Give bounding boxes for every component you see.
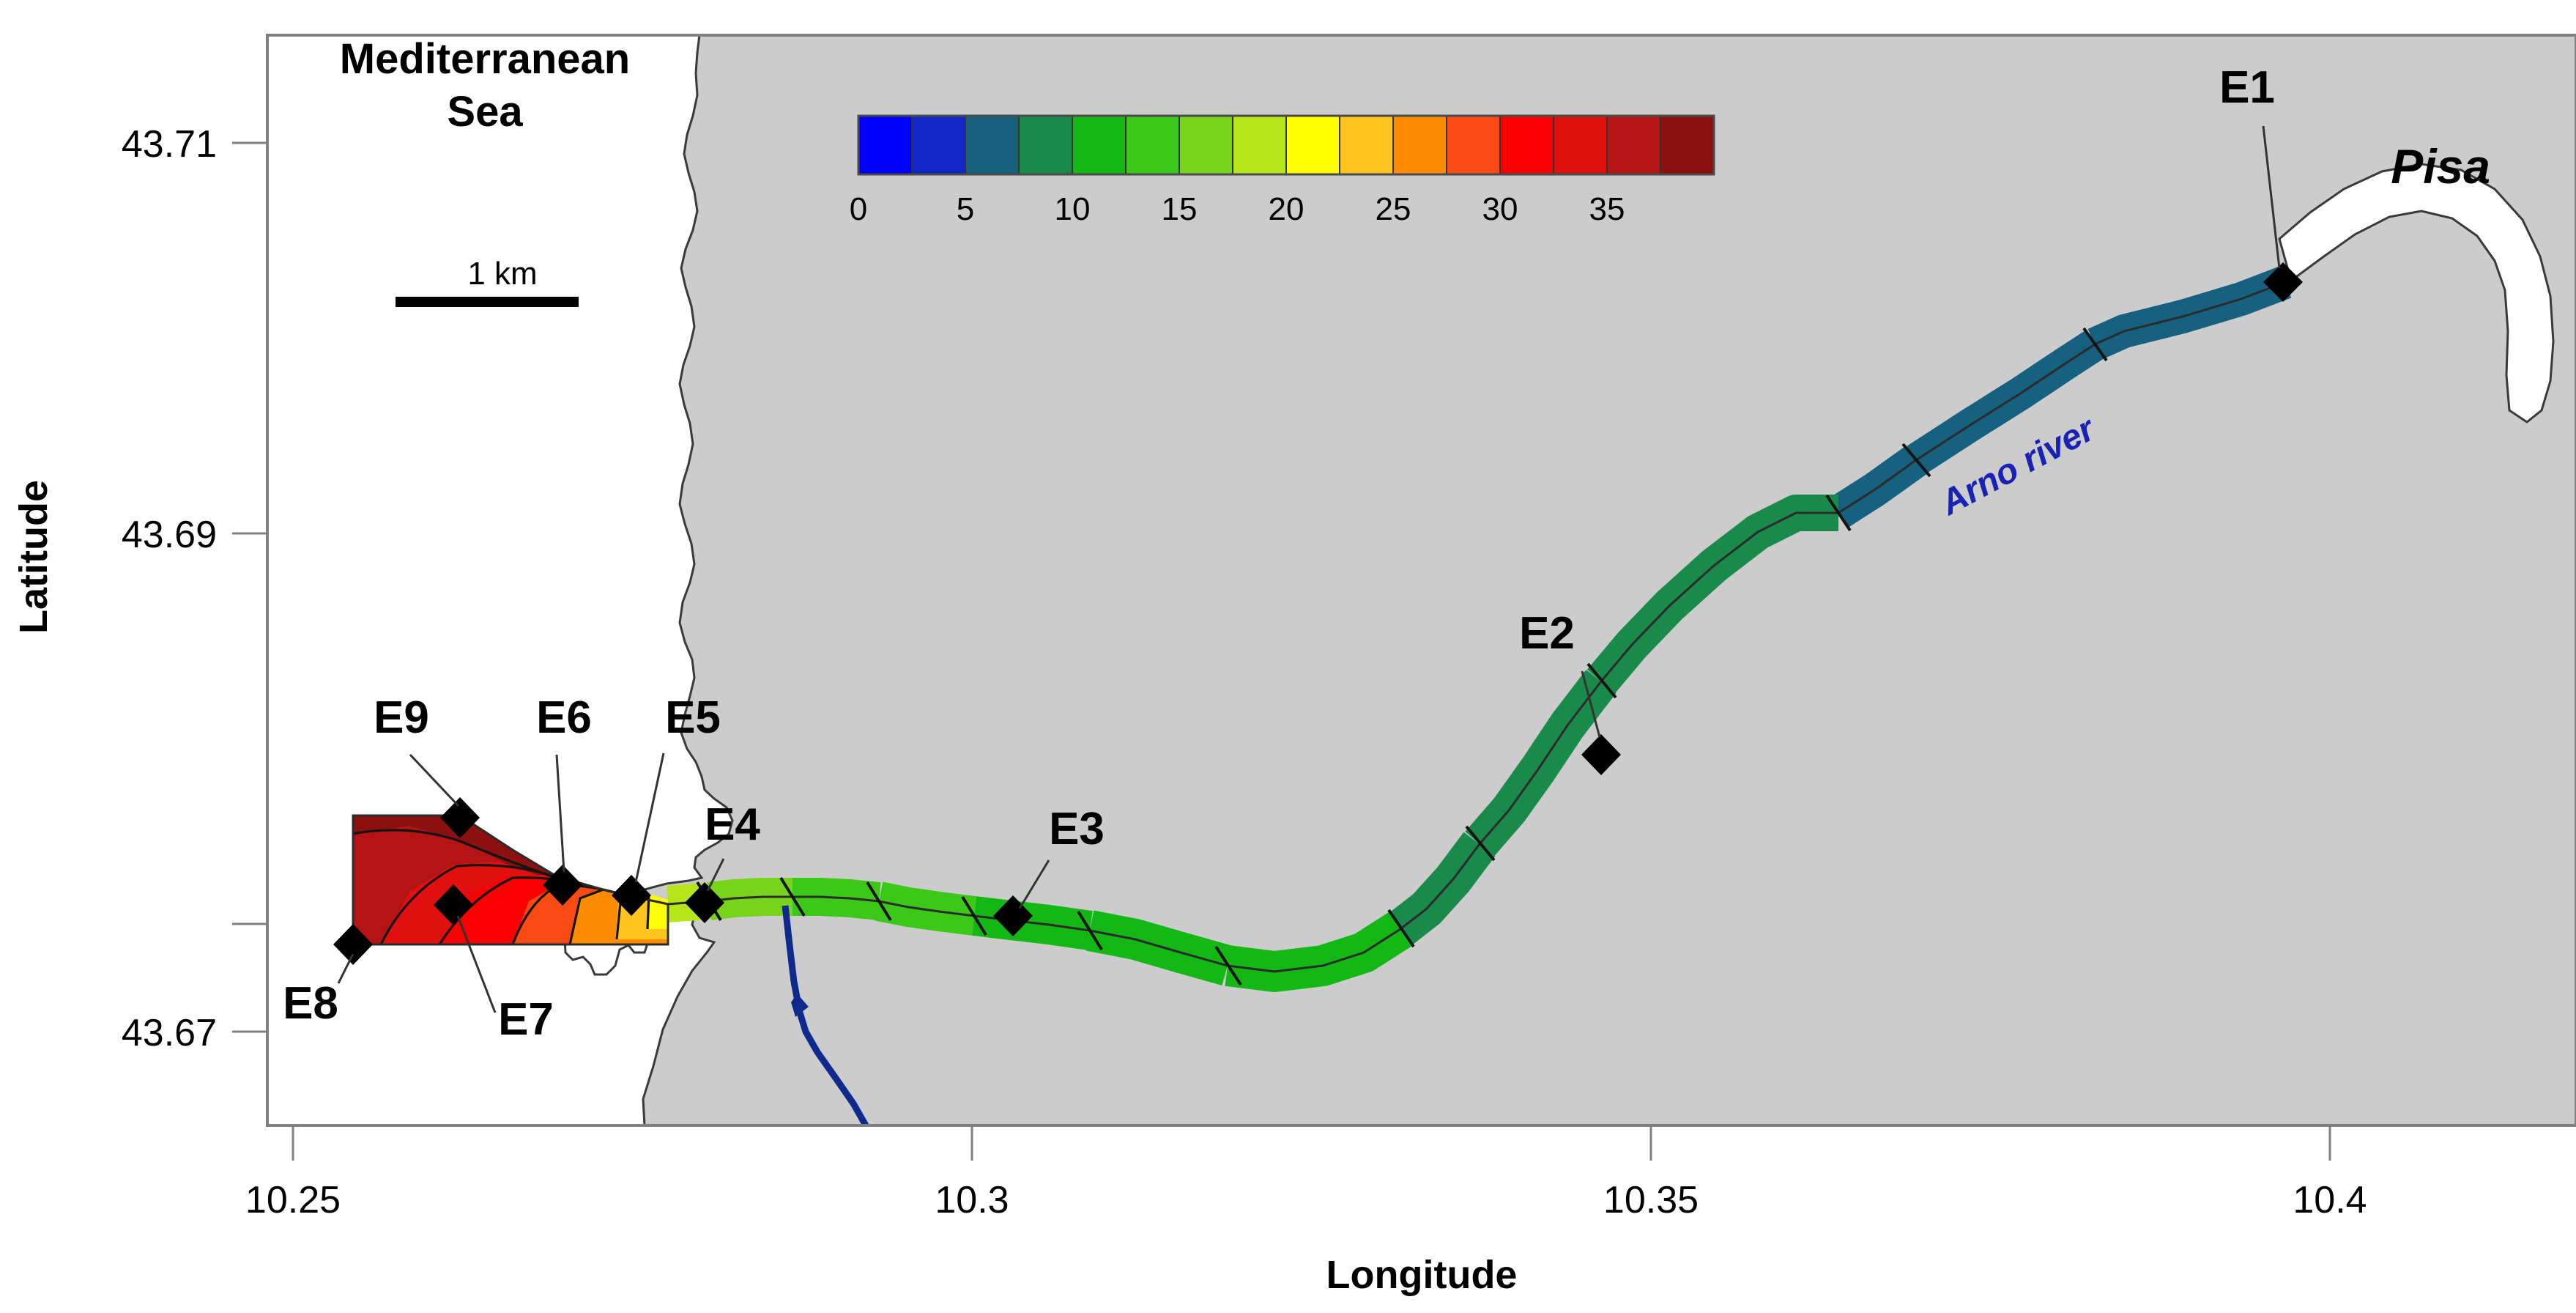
- colorbar-swatch-10: [1393, 116, 1447, 174]
- colorbar-swatch-4: [1072, 116, 1126, 174]
- colorbar-tick-label-6: 30: [1482, 191, 1518, 227]
- colorbar-swatch-0: [858, 116, 913, 174]
- colorbar-swatch-7: [1233, 116, 1287, 174]
- station-label-E7: E7: [498, 994, 554, 1045]
- colorbar-swatch-15: [1660, 116, 1715, 174]
- station-label-E8: E8: [283, 978, 338, 1029]
- x-tick-label-1: 10.3: [935, 1179, 1009, 1221]
- sea-label-line2: Sea: [447, 88, 523, 136]
- station-label-E6: E6: [536, 692, 592, 743]
- y-axis-title: Latitude: [12, 480, 56, 634]
- colorbar-tick-label-0: 0: [850, 191, 867, 227]
- colorbar-swatch-8: [1286, 116, 1340, 174]
- city-label-pisa: Pisa: [2391, 139, 2490, 193]
- colorbar-tick-label-1: 5: [957, 191, 974, 227]
- colorbar-swatch-9: [1340, 116, 1394, 174]
- colorbar-swatch-3: [1019, 116, 1073, 174]
- x-axis-title: Longitude: [1326, 1253, 1518, 1297]
- colorbar-swatch-5: [1126, 116, 1180, 174]
- y-tick-label-0: 43.71: [122, 123, 217, 166]
- map-figure: 10.25 10.3 10.35 10.4 43.71 43.69 43.67 …: [0, 0, 2576, 1313]
- station-label-E9: E9: [374, 692, 429, 743]
- scale-bar-label: 1 km: [467, 256, 537, 292]
- x-tick-label-0: 10.25: [245, 1179, 341, 1221]
- colorbar-swatch-14: [1607, 116, 1661, 174]
- colorbar-swatch-1: [912, 116, 966, 174]
- station-label-E4: E4: [705, 799, 760, 850]
- y-tick-label-1: 43.69: [122, 514, 217, 556]
- colorbar-swatch-13: [1554, 116, 1608, 174]
- station-label-E1: E1: [2219, 62, 2275, 113]
- colorbar-swatch-6: [1179, 116, 1233, 174]
- map-canvas: [267, 35, 2576, 1125]
- sea-label-line1: Mediterranean: [340, 35, 630, 83]
- colorbar: [858, 116, 1715, 174]
- station-label-E2: E2: [1519, 608, 1575, 659]
- figure-root: 10.25 10.3 10.35 10.4 43.71 43.69 43.67 …: [0, 0, 2576, 1313]
- y-tick-label-2: 43.67: [122, 1012, 217, 1054]
- station-label-E3: E3: [1049, 804, 1105, 854]
- colorbar-swatch-2: [965, 116, 1020, 174]
- colorbar-swatch-12: [1500, 116, 1554, 174]
- colorbar-tick-label-5: 25: [1376, 191, 1411, 227]
- x-tick-label-2: 10.35: [1603, 1179, 1699, 1221]
- colorbar-tick-label-4: 20: [1269, 191, 1304, 227]
- colorbar-swatch-11: [1447, 116, 1501, 174]
- x-tick-label-3: 10.4: [2293, 1179, 2367, 1221]
- colorbar-tick-label-3: 15: [1162, 191, 1198, 227]
- colorbar-tick-label-2: 10: [1055, 191, 1091, 227]
- station-label-E5: E5: [665, 692, 721, 743]
- colorbar-tick-label-7: 35: [1589, 191, 1625, 227]
